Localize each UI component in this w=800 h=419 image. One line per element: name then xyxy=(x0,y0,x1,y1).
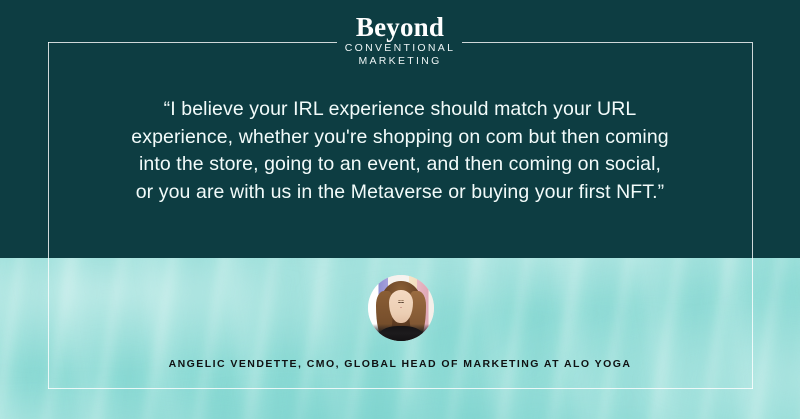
photo-face xyxy=(389,290,413,323)
photo-bottom-shadow xyxy=(368,324,434,341)
frame-bottom-edge xyxy=(48,388,753,389)
logo-subtitle-line-2: MARKETING xyxy=(0,55,800,68)
brand-logo: Beyond CONVENTIONAL MARKETING xyxy=(0,12,800,68)
photo-brow-right xyxy=(401,300,404,301)
attribution-line: ANGELIC VENDETTE, CMO, GLOBAL HEAD OF MA… xyxy=(0,357,800,371)
frame-right-edge xyxy=(752,42,753,389)
quote-line-4: or you are with us in the Metaverse or b… xyxy=(60,179,740,207)
logo-wordmark: Beyond xyxy=(0,12,800,42)
quote-card: Beyond CONVENTIONAL MARKETING “I believe… xyxy=(0,0,800,419)
photo-mouth xyxy=(400,307,403,308)
quote-text: “I believe your IRL experience should ma… xyxy=(60,96,740,206)
quote-line-2: experience, whether you're shopping on c… xyxy=(60,124,740,152)
photo-eye-right xyxy=(401,302,404,304)
avatar-photo xyxy=(368,275,434,341)
logo-subtitle-line-1: CONVENTIONAL xyxy=(0,42,800,55)
quote-line-1: “I believe your IRL experience should ma… xyxy=(60,96,740,124)
quote-line-3: into the store, going to an event, and t… xyxy=(60,151,740,179)
frame-left-edge xyxy=(48,42,49,389)
avatar xyxy=(368,275,434,341)
